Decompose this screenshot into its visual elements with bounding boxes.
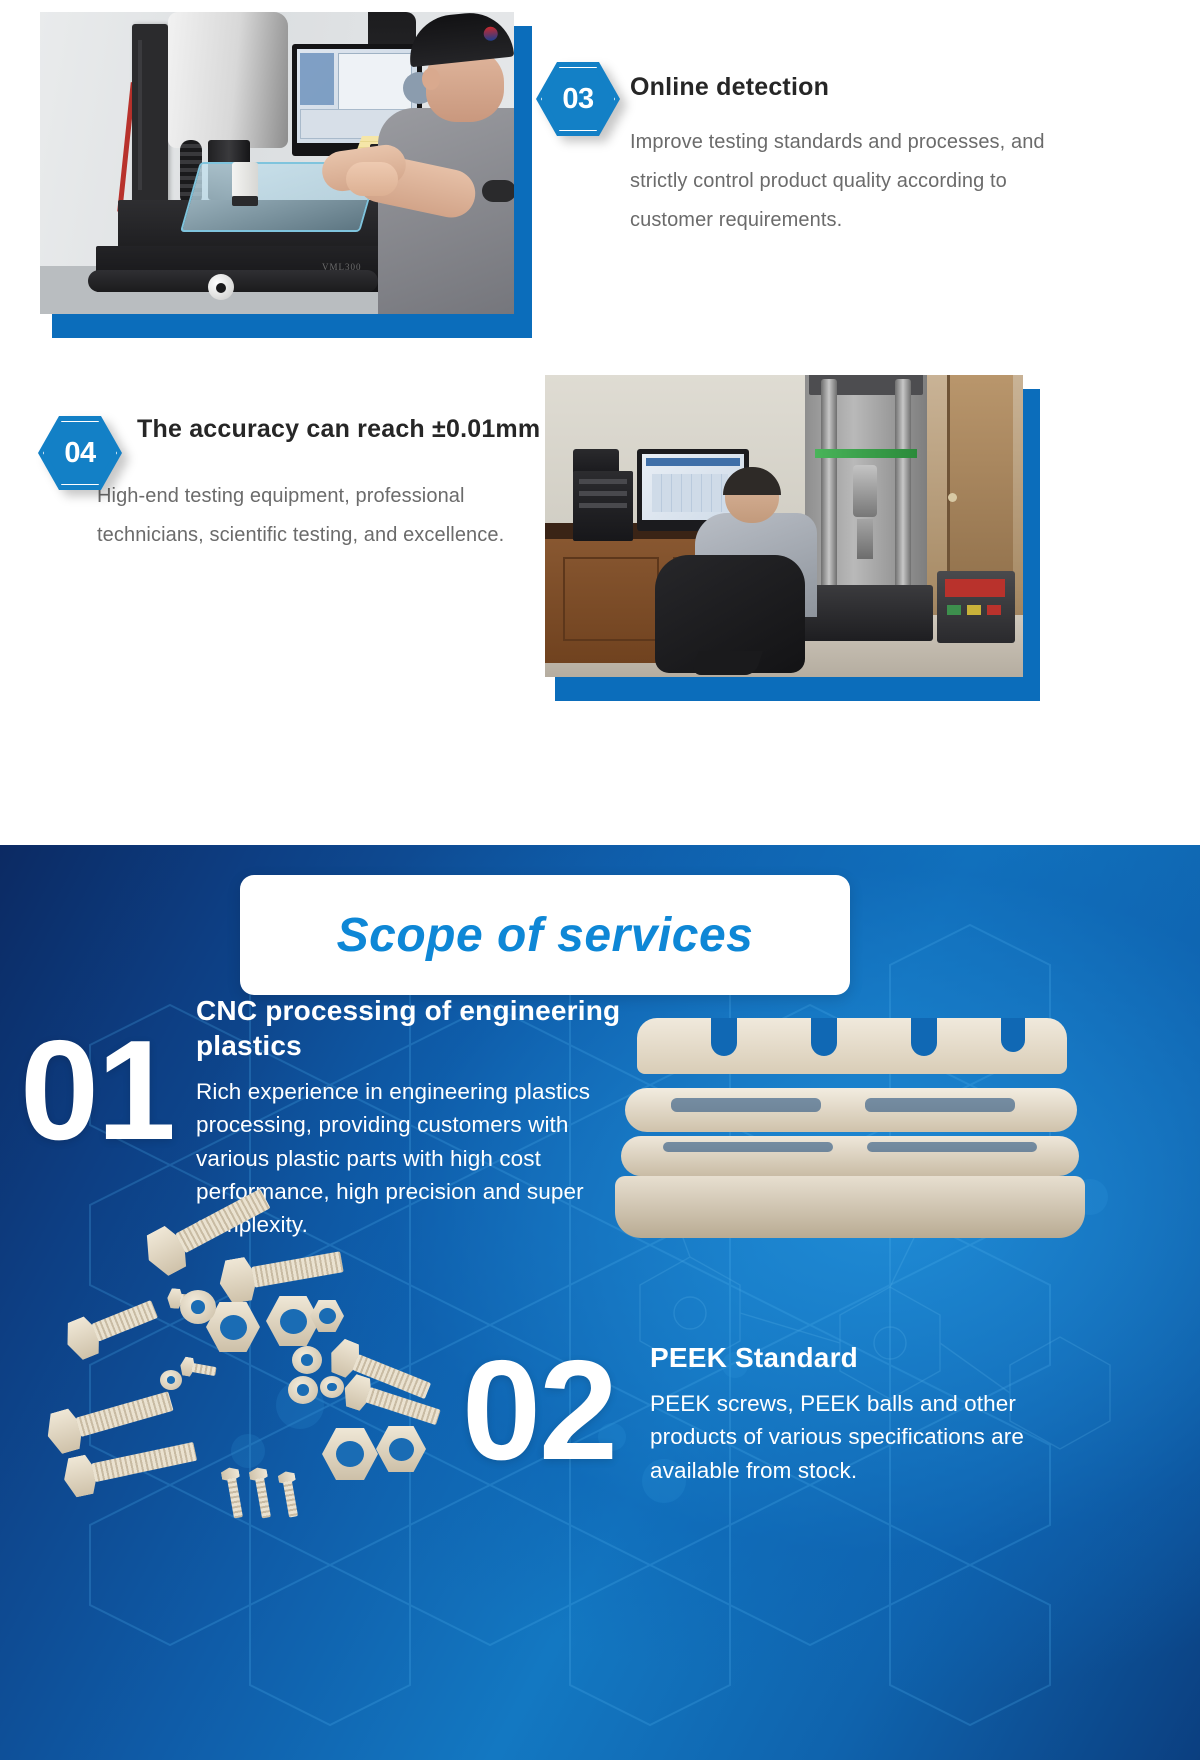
- scope-item-number-02: 02: [462, 1340, 616, 1482]
- scope-item-title-01: CNC processing of engineering plastics: [196, 993, 636, 1063]
- scope-item-body-02: PEEK screws, PEEK balls and other produc…: [650, 1387, 1060, 1487]
- photo-frame-measuring-machine: VML300: [40, 12, 520, 332]
- scope-of-services-section: Scope of services 01 CNC processing of e…: [0, 845, 1200, 1760]
- scope-banner-card: Scope of services: [240, 875, 850, 995]
- badge-number-04: 04: [38, 416, 122, 490]
- product-image-peek-screws: [20, 1240, 480, 1540]
- scope-item-number-01: 01: [20, 1020, 174, 1162]
- scope-item-02: PEEK Standard PEEK screws, PEEK balls an…: [650, 1340, 1060, 1487]
- scope-banner-title: Scope of services: [337, 908, 754, 963]
- hexagon-badge-icon-03: 03: [536, 62, 620, 136]
- feature-body-04: High-end testing equipment, professional…: [97, 477, 557, 555]
- photo-frame-tensile-tester: [545, 375, 1035, 695]
- feature-block-accuracy: 04 The accuracy can reach ±0.01mm High-e…: [137, 408, 557, 555]
- top-features-section: VML300 03: [0, 0, 1200, 845]
- feature-body-03: Improve testing standards and processes,…: [630, 123, 1050, 240]
- photo-tensile-tester: [545, 375, 1023, 677]
- badge-number-03: 03: [536, 62, 620, 136]
- scope-item-body-01: Rich experience in engineering plastics …: [196, 1075, 636, 1241]
- hexagon-badge-icon-04: 04: [38, 416, 122, 490]
- feature-block-online-detection: 03 Online detection Improve testing stan…: [630, 60, 1050, 240]
- scope-item-title-02: PEEK Standard: [650, 1340, 1060, 1375]
- product-image-peek-curved-part: [615, 1010, 1085, 1260]
- machine-model-label: VML300: [322, 262, 362, 272]
- feature-title-04: The accuracy can reach ±0.01mm: [137, 408, 557, 447]
- feature-title-03: Online detection: [630, 60, 1050, 105]
- page-root: VML300 03: [0, 0, 1200, 1760]
- photo-measuring-machine: VML300: [40, 12, 514, 314]
